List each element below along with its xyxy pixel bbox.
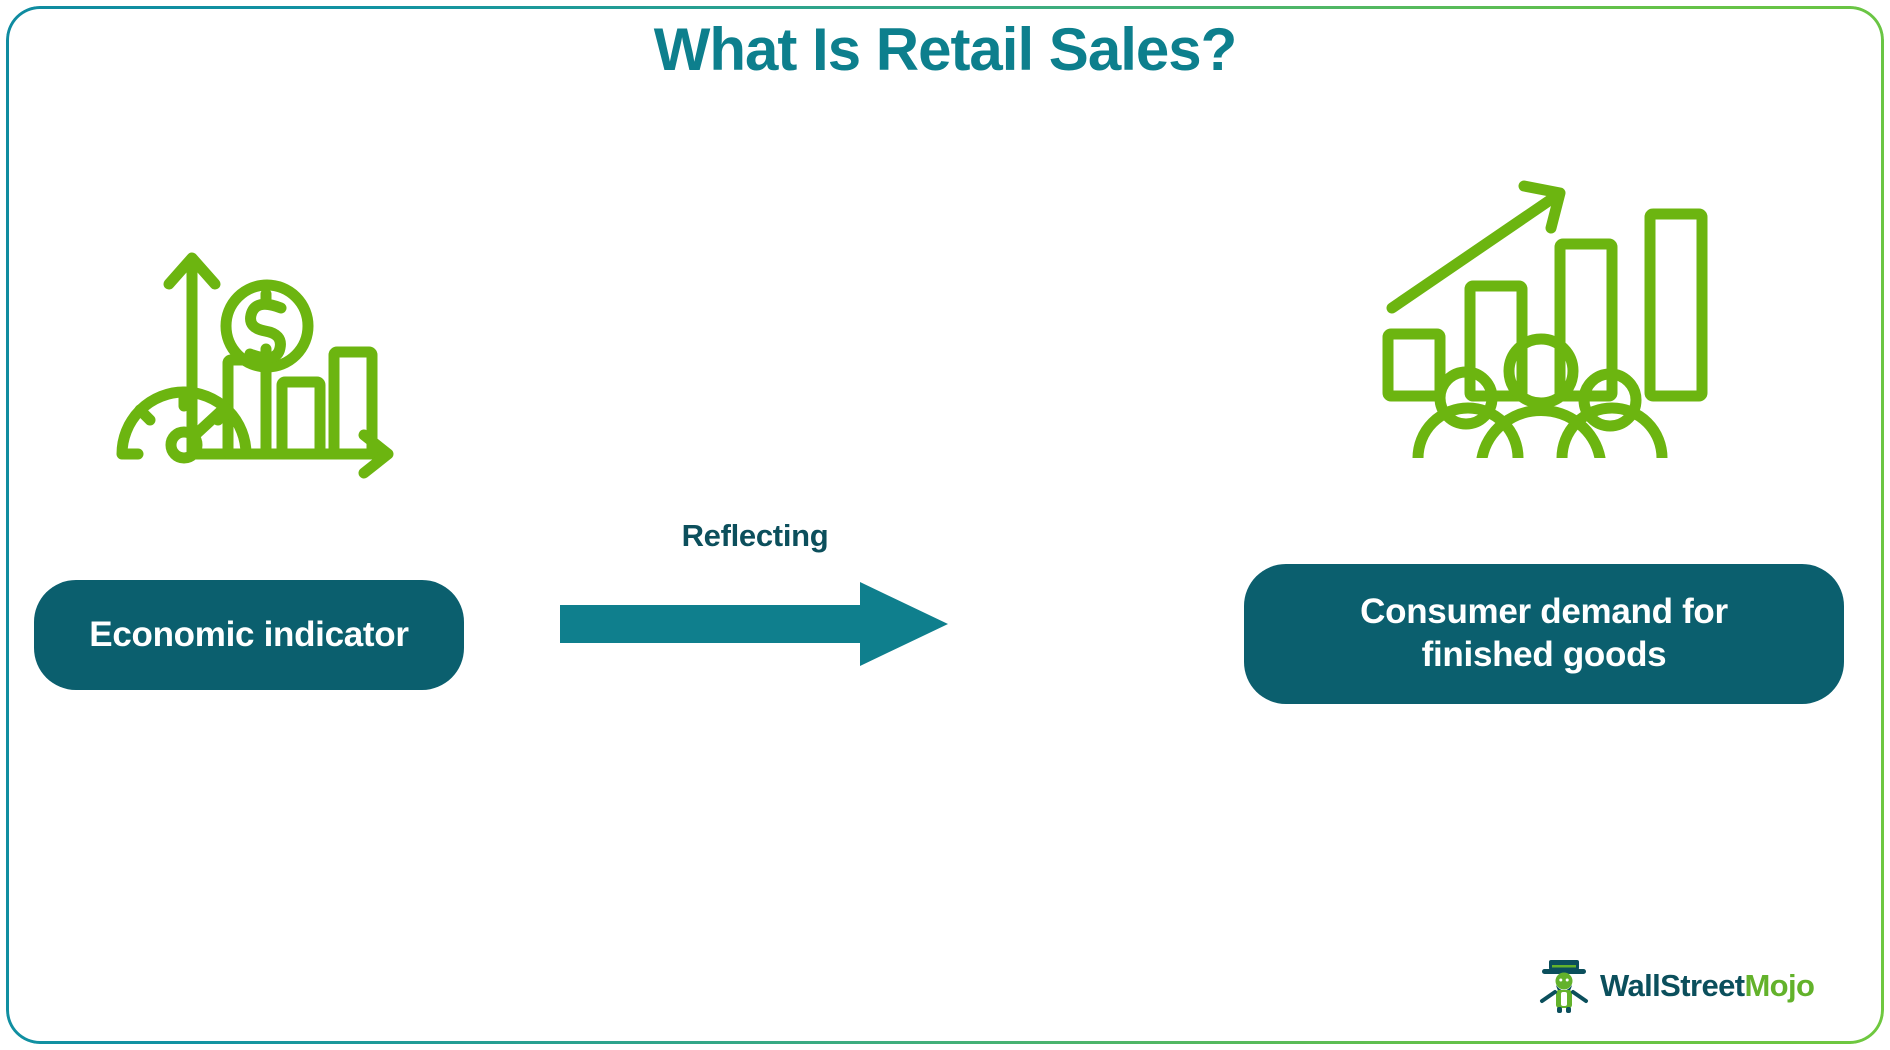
logo-text-primary: WallStreet xyxy=(1600,968,1744,1003)
node-economic-indicator[interactable]: Economic indicator xyxy=(34,580,464,690)
node-consumer-demand[interactable]: Consumer demand for finished goods xyxy=(1244,564,1844,704)
consumer-demand-icon xyxy=(1378,168,1718,458)
infographic-canvas: What Is Retail Sales? xyxy=(0,0,1890,1050)
connector-label: Reflecting xyxy=(560,518,950,554)
bar-4 xyxy=(1650,214,1702,396)
consumer-demand-graphic xyxy=(1378,168,1718,458)
connector-arrow xyxy=(560,580,950,668)
node-label-line-1: Consumer demand for xyxy=(1360,592,1728,631)
economic-indicator-icon xyxy=(108,242,408,494)
economic-indicator-graphic xyxy=(108,242,408,494)
wallstreetmojo-leprechaun-icon xyxy=(1538,958,1590,1014)
node-label-consumer-demand: Consumer demand for finished goods xyxy=(1360,591,1728,676)
node-label-line-2: finished goods xyxy=(1422,635,1667,674)
ascending-bar-chart xyxy=(1388,214,1702,396)
brand-logo[interactable]: WallStreetMojo xyxy=(1538,955,1858,1017)
logo-text-accent: Mojo xyxy=(1744,968,1814,1003)
page-title: What Is Retail Sales? xyxy=(0,14,1890,86)
logo-wordmark: WallStreetMojo xyxy=(1600,968,1814,1004)
bar-1 xyxy=(1388,334,1440,396)
group-of-people-icon xyxy=(1418,339,1662,458)
node-label-economic-indicator: Economic indicator xyxy=(89,615,408,655)
right-arrow-icon xyxy=(560,580,950,668)
